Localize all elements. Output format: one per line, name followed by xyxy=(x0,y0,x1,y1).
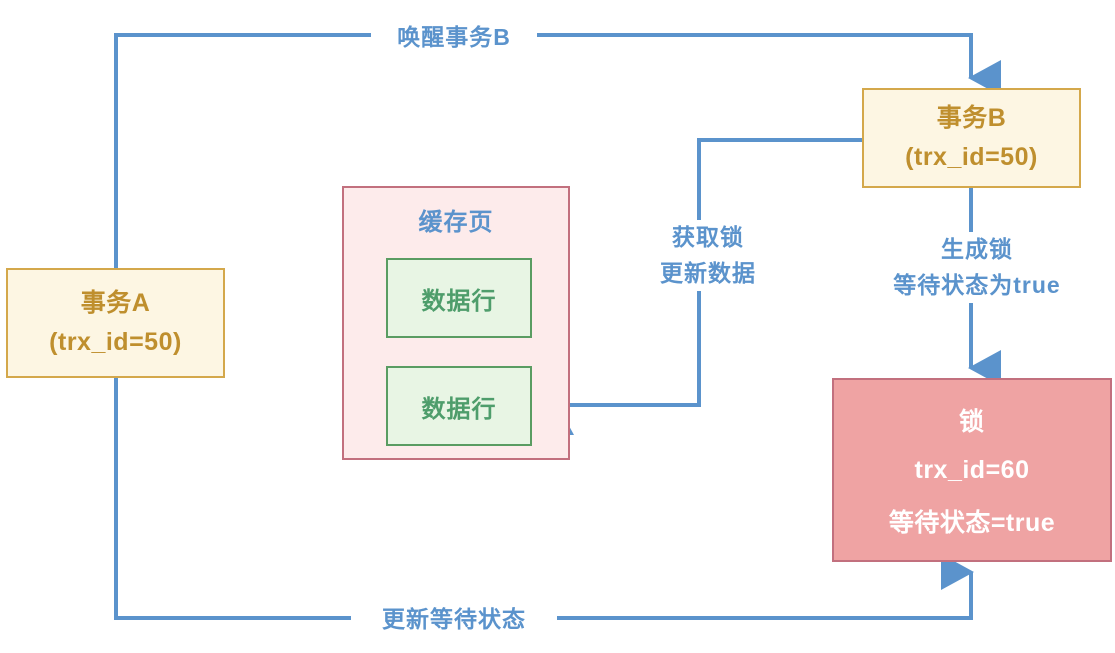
node-lock[interactable]: 锁 trx_id=60 等待状态=true xyxy=(832,378,1112,562)
transaction-a-subtitle: (trx_id=50) xyxy=(49,328,182,357)
edge-label-acquire-lock-update-data: 获取锁 更新数据 xyxy=(626,220,790,291)
node-transaction-b[interactable]: 事务B (trx_id=50) xyxy=(862,88,1081,188)
node-cache-page[interactable]: 缓存页 数据行 数据行 xyxy=(342,186,570,460)
edge-label-generate-lock-line2: 等待状态为true xyxy=(880,268,1074,304)
cache-page-row-1[interactable]: 数据行 xyxy=(386,258,532,338)
edge-label-generate-lock-line1: 生成锁 xyxy=(880,232,1074,268)
transaction-b-subtitle: (trx_id=50) xyxy=(905,143,1038,172)
edge-label-update-wait-state: 更新等待状态 xyxy=(351,602,557,638)
lock-wait-state: 等待状态=true xyxy=(889,503,1055,539)
cache-page-row-1-label: 数据行 xyxy=(422,281,497,316)
cache-page-title: 缓存页 xyxy=(419,202,494,237)
lock-trx-id: trx_id=60 xyxy=(915,456,1030,485)
edge-label-wake-transaction-b: 唤醒事务B xyxy=(371,20,537,56)
transaction-a-title: 事务A xyxy=(81,289,151,318)
edge-label-acquire-lock-line2: 更新数据 xyxy=(632,256,784,292)
edge-label-generate-lock: 生成锁 等待状态为true xyxy=(874,232,1080,303)
transaction-b-title: 事务B xyxy=(937,104,1007,133)
node-transaction-a[interactable]: 事务A (trx_id=50) xyxy=(6,268,225,378)
cache-page-row-2-label: 数据行 xyxy=(422,389,497,424)
edge-label-wake-transaction-b-text: 唤醒事务B xyxy=(397,24,511,50)
diagram-canvas: 事务A (trx_id=50) 事务B (trx_id=50) 缓存页 数据行 … xyxy=(0,0,1115,653)
edge-label-acquire-lock-line1: 获取锁 xyxy=(632,220,784,256)
edge-label-update-wait-state-text: 更新等待状态 xyxy=(382,606,526,632)
cache-page-row-2[interactable]: 数据行 xyxy=(386,366,532,446)
lock-title: 锁 xyxy=(959,402,985,438)
